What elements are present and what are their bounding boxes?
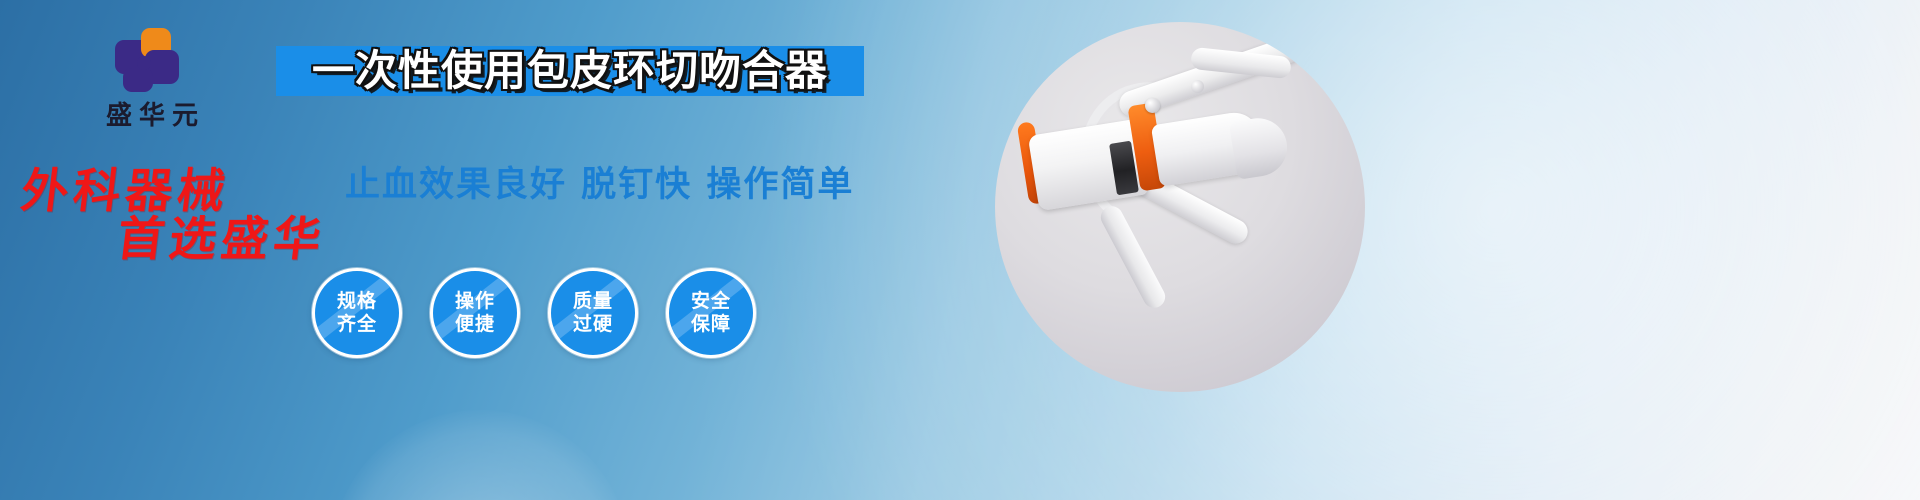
stapler-pivot-joint: [1145, 98, 1160, 113]
product-subtitle: 止血效果良好 脱钉快 操作简单: [345, 168, 854, 203]
logo-block-purple-bottom: [123, 68, 153, 92]
feature-badge-specs[interactable]: 规格 齐全: [312, 268, 402, 358]
badge-label-line1: 操作: [455, 290, 495, 313]
brand-name: 盛华元: [62, 103, 242, 129]
product-title-bar: 一次性使用包皮环切吻合器: [276, 46, 864, 96]
feature-badge-group: 规格 齐全 操作 便捷 质量 过硬 安全 保障: [312, 268, 756, 358]
badge-label-line1: 质量: [573, 290, 613, 313]
stapler-tip: [1229, 114, 1291, 180]
badge-label-line2: 保障: [691, 313, 731, 336]
stapler-illustration-icon: [995, 22, 1365, 392]
badge-label-line1: 安全: [691, 290, 731, 313]
badge-label-line2: 过硬: [573, 313, 613, 336]
logo-block-purple-center: [137, 56, 151, 70]
stapler-pivot-joint-secondary: [1191, 80, 1204, 93]
shenghuayuan-logo-mark-icon: [115, 28, 189, 94]
decorative-arc: [330, 410, 630, 500]
badge-label-line1: 规格: [337, 290, 377, 313]
feature-badge-quality[interactable]: 质量 过硬: [548, 268, 638, 358]
product-photo: [995, 22, 1365, 392]
feature-badge-safety[interactable]: 安全 保障: [666, 268, 756, 358]
page-title: 一次性使用包皮环切吻合器: [312, 50, 828, 92]
badge-label-line2: 便捷: [455, 313, 495, 336]
badge-label-line2: 齐全: [337, 313, 377, 336]
slogan-line-2: 首选盛华: [114, 200, 330, 269]
brand-logo[interactable]: 盛华元: [62, 28, 242, 129]
feature-badge-operation[interactable]: 操作 便捷: [430, 268, 520, 358]
